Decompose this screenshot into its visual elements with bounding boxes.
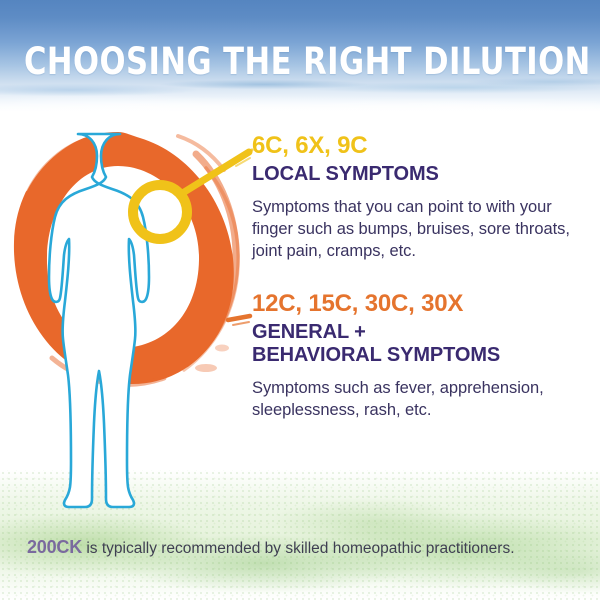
subhead-general-line1: GENERAL + xyxy=(252,321,366,343)
subhead-general-line2: BEHAVIORAL SYMPTOMS xyxy=(252,344,500,366)
subhead-general: GENERAL + BEHAVIORAL SYMPTOMS xyxy=(252,321,592,367)
body-general: Symptoms such as fever, apprehension, sl… xyxy=(252,377,592,421)
body-local: Symptoms that you can point to with your… xyxy=(252,196,592,262)
section-local-symptoms: 6C, 6X, 9C LOCAL SYMPTOMS Symptoms that … xyxy=(252,132,592,262)
dilutions-local: 6C, 6X, 9C xyxy=(252,132,592,160)
footnote-dilution-label: 200CK xyxy=(27,537,82,557)
infographic-root: CHOOSING THE RIGHT DILUTION xyxy=(0,0,600,600)
section-general-behavioral-symptoms: 12C, 15C, 30C, 30X GENERAL + BEHAVIORAL … xyxy=(252,290,592,421)
dilutions-general: 12C, 15C, 30C, 30X xyxy=(252,290,592,318)
content-column: 6C, 6X, 9C LOCAL SYMPTOMS Symptoms that … xyxy=(252,132,592,421)
footnote: 200CK is typically recommended by skille… xyxy=(27,537,583,559)
subhead-local: LOCAL SYMPTOMS xyxy=(252,163,592,186)
page-title: CHOOSING THE RIGHT DILUTION xyxy=(24,40,576,84)
body-diagram xyxy=(0,120,260,540)
orange-pointer-dash xyxy=(228,316,250,325)
footnote-text: is typically recommended by skilled home… xyxy=(82,540,514,557)
